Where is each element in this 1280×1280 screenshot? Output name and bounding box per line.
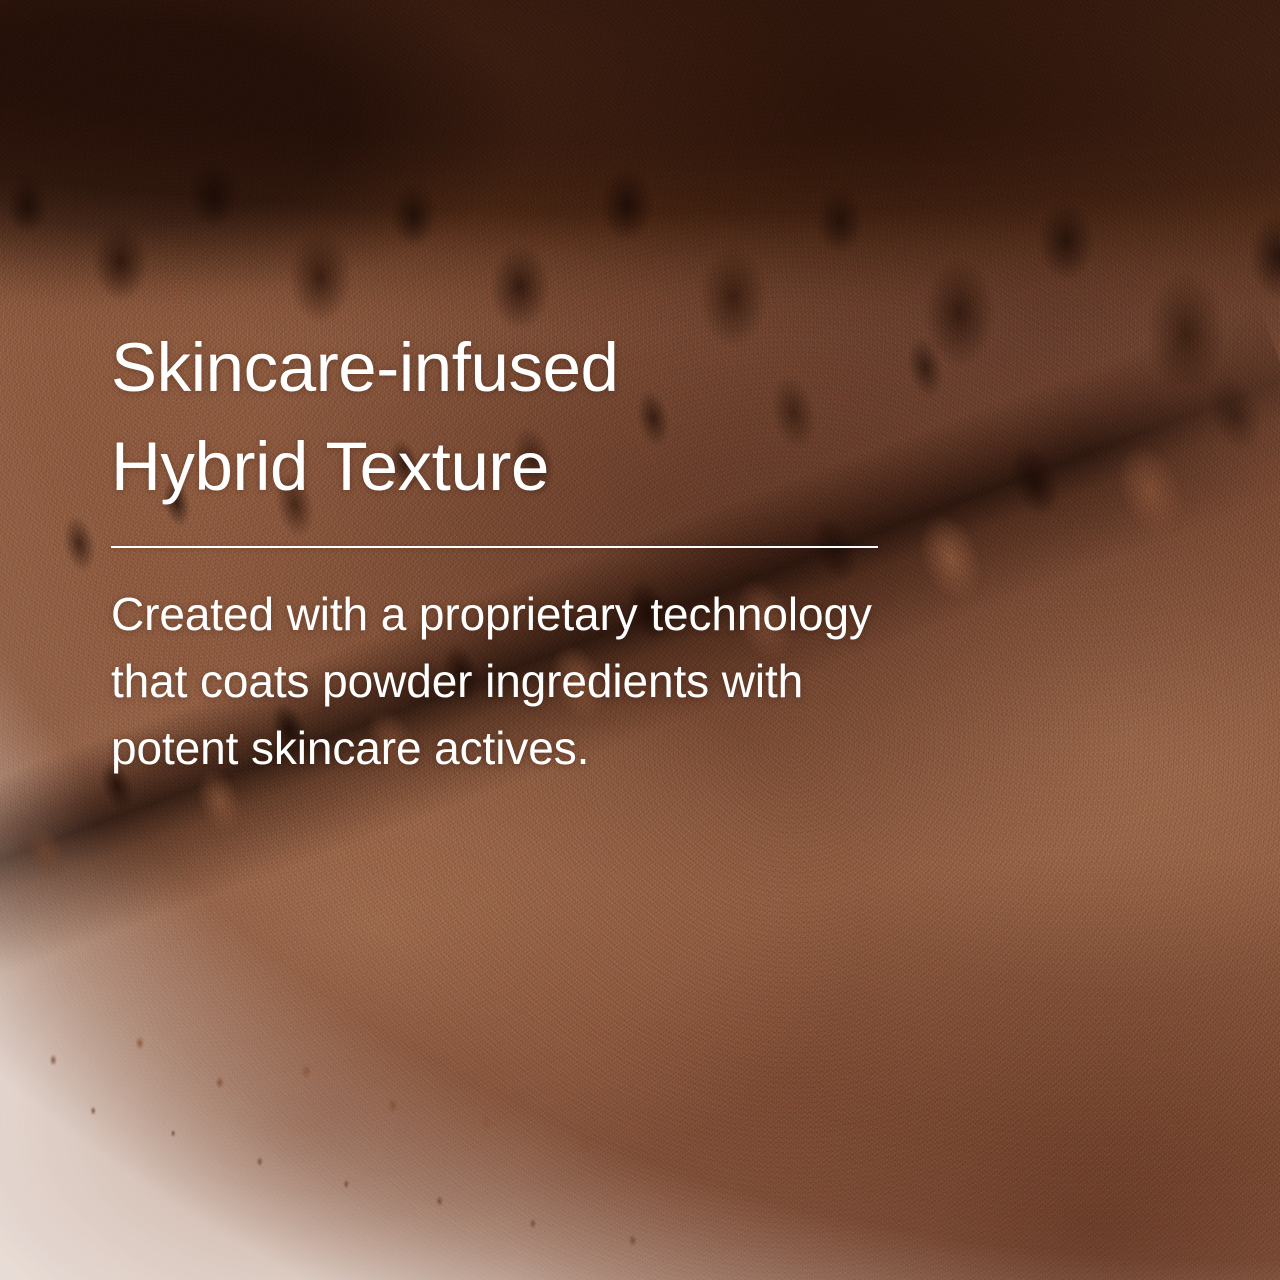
body-copy: Created with a proprietary technology th… bbox=[111, 581, 1071, 782]
divider-rule bbox=[111, 546, 878, 548]
text-overlay: Skincare-infused Hybrid Texture Created … bbox=[111, 318, 1071, 782]
headline: Skincare-infused Hybrid Texture bbox=[111, 318, 1071, 516]
marketing-image: Skincare-infused Hybrid Texture Created … bbox=[0, 0, 1280, 1280]
